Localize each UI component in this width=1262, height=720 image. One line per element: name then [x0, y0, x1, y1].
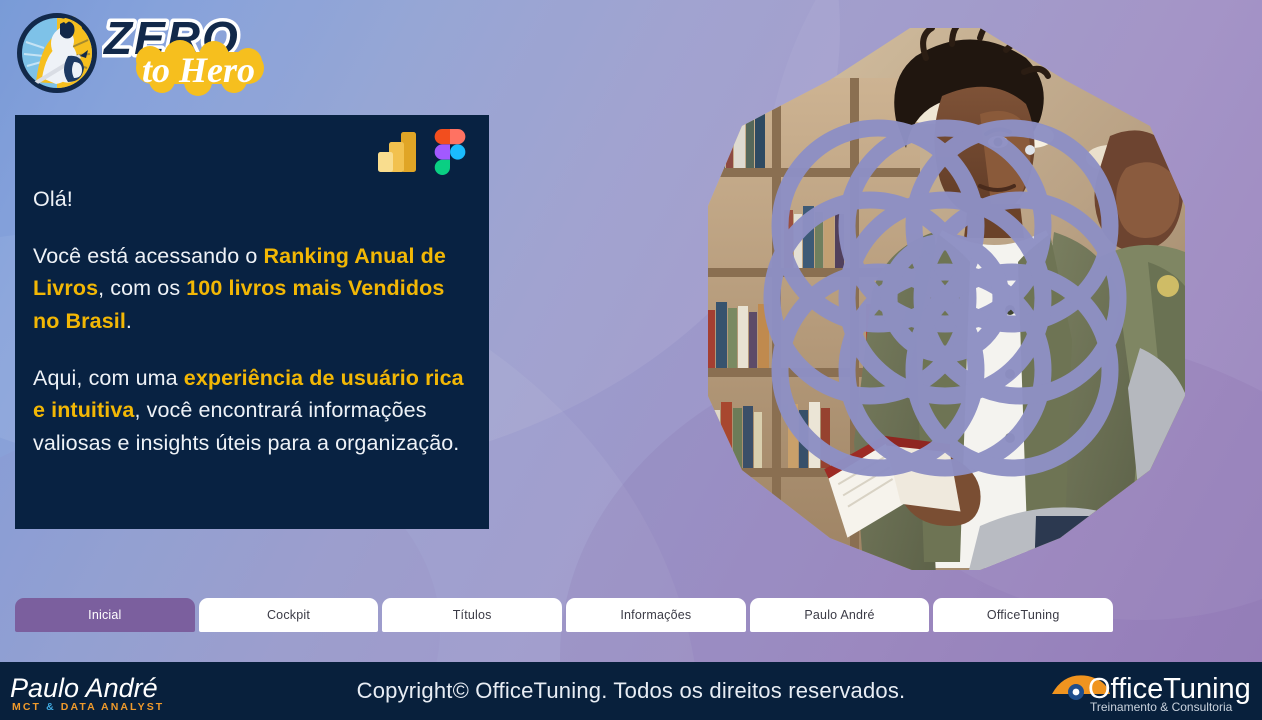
card-icon-group — [377, 129, 467, 175]
wordmark-to-hero: to Hero — [142, 50, 255, 90]
page-navigation-tabs[interactable]: Inicial Cockpit Títulos Informações Paul… — [15, 598, 1113, 632]
tab-cockpit[interactable]: Cockpit — [199, 598, 379, 632]
tab-informacoes[interactable]: Informações — [566, 598, 746, 632]
tab-officetuning[interactable]: OfficeTuning — [933, 598, 1113, 632]
paragraph-experience: Aqui, com uma experiência de usuário ric… — [33, 362, 473, 460]
page-footer: Paulo André MCT & DATA ANALYST Copyright… — [0, 662, 1262, 720]
paragraph-ranking: Você está acessando o Ranking Anual de L… — [33, 240, 473, 338]
zero-to-hero-wordmark: ZERO ZERO to Hero — [102, 6, 302, 101]
brand-logo: ZERO ZERO to Hero — [10, 4, 310, 104]
report-page: ZERO ZERO to Hero — [0, 0, 1262, 720]
card-body-text: Olá! Você está acessando o Ranking Anual… — [33, 183, 473, 460]
hero-photo — [680, 18, 1210, 578]
figma-icon — [433, 129, 467, 175]
tab-titulos[interactable]: Títulos — [382, 598, 562, 632]
tab-inicial[interactable]: Inicial — [15, 598, 195, 632]
power-bi-icon — [377, 131, 417, 173]
spartan-warrior-mascot-icon — [16, 12, 98, 94]
officetuning-logo[interactable]: OfficeTuning Treinamento & Consultoria — [1048, 668, 1254, 714]
officetuning-logo-subtitle: Treinamento & Consultoria — [1090, 700, 1233, 714]
welcome-card: Olá! Você está acessando o Ranking Anual… — [15, 115, 489, 529]
tab-paulo-andre[interactable]: Paulo André — [750, 598, 930, 632]
greeting-line: Olá! — [33, 183, 473, 216]
